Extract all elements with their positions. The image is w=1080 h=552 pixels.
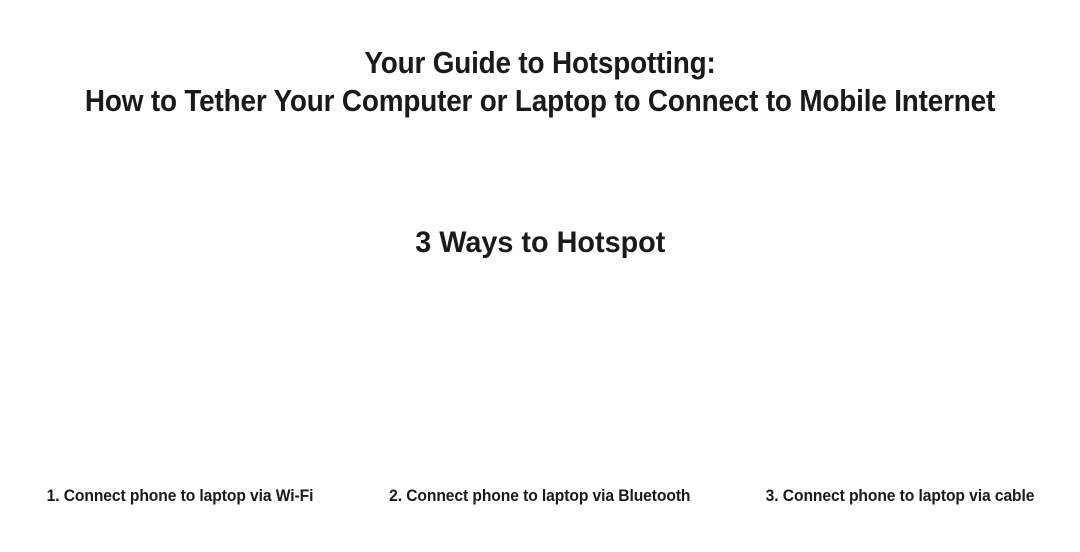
- page-title: Your Guide to Hotspotting: How to Tether…: [0, 44, 1080, 120]
- method-caption-bluetooth: 2. Connect phone to laptop via Bluetooth: [360, 485, 720, 507]
- method-captions-row: 1. Connect phone to laptop via Wi-Fi 2. …: [0, 485, 1080, 515]
- method-illustration-bluetooth: [360, 292, 720, 482]
- method-illustration-cable: [720, 292, 1080, 482]
- infographic-page: Your Guide to Hotspotting: How to Tether…: [0, 0, 1080, 552]
- method-caption-cable-text: 3. Connect phone to laptop via cable: [766, 485, 1035, 507]
- section-heading-text: 3 Ways to Hotspot: [415, 224, 665, 262]
- method-caption-wifi-text: 1. Connect phone to laptop via Wi-Fi: [47, 485, 314, 507]
- method-caption-cable: 3. Connect phone to laptop via cable: [720, 485, 1080, 507]
- section-heading: 3 Ways to Hotspot: [0, 224, 1080, 262]
- method-illustrations-row: [0, 292, 1080, 482]
- page-title-line-2: How to Tether Your Computer or Laptop to…: [54, 82, 1026, 120]
- method-caption-bluetooth-text: 2. Connect phone to laptop via Bluetooth: [389, 485, 690, 507]
- page-title-line-1: Your Guide to Hotspotting:: [54, 44, 1026, 82]
- method-caption-wifi: 1. Connect phone to laptop via Wi-Fi: [0, 485, 360, 507]
- method-illustration-wifi: [0, 292, 360, 482]
